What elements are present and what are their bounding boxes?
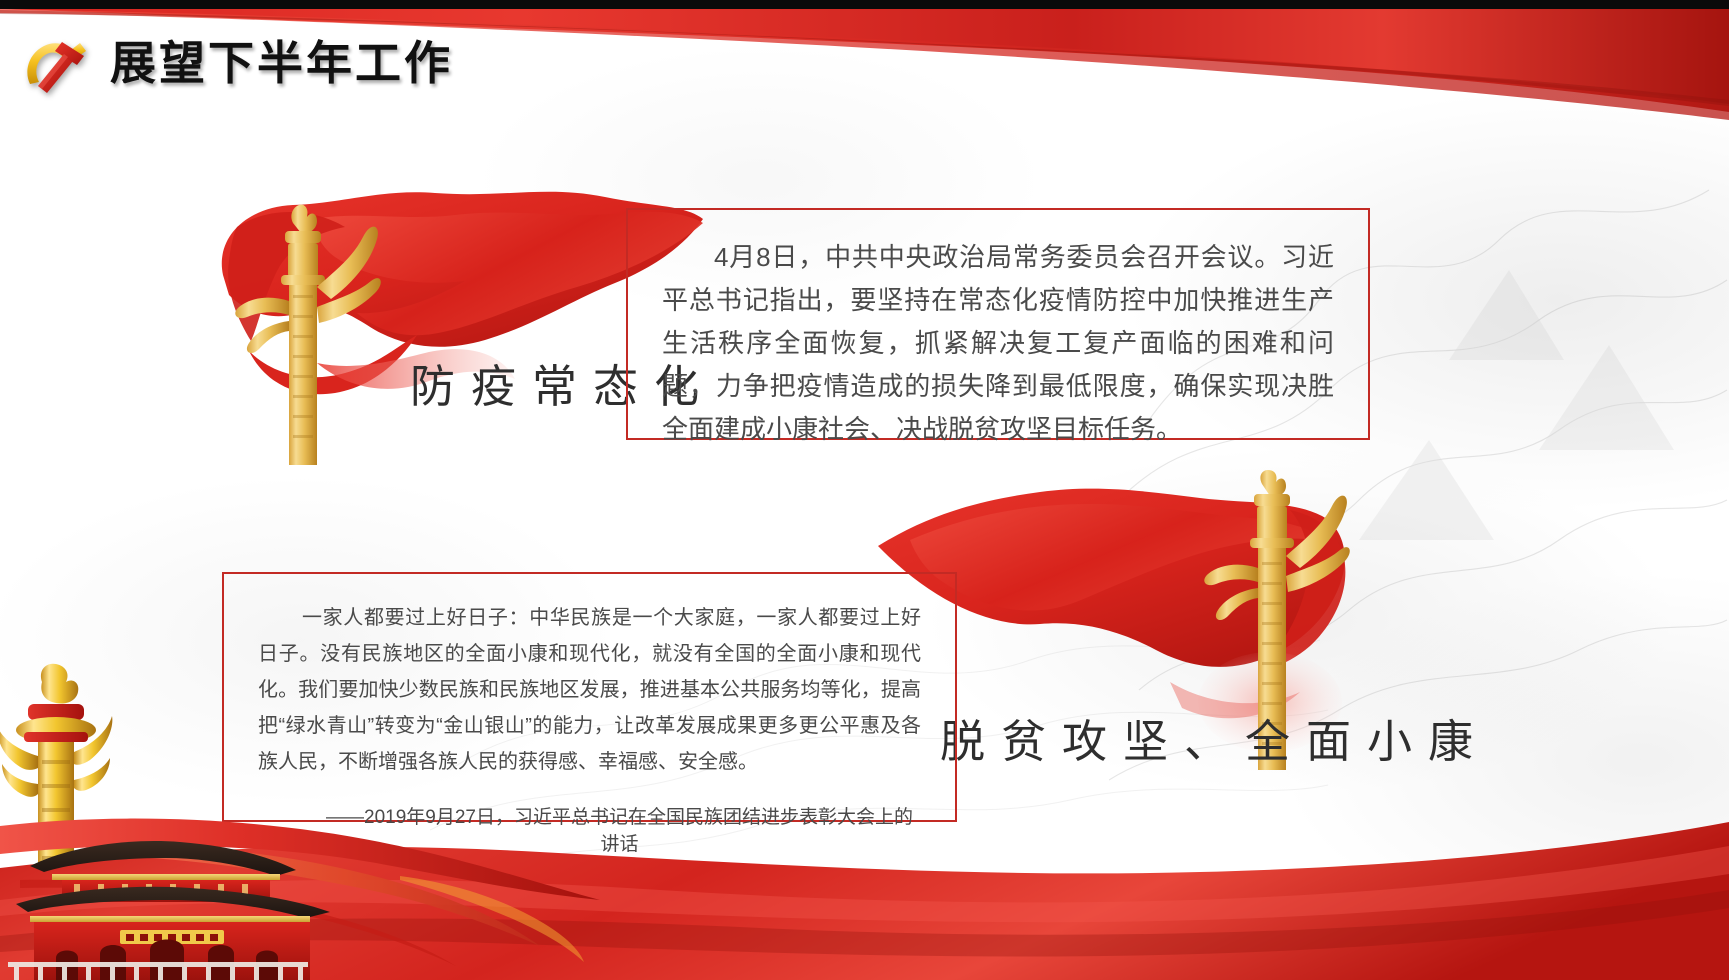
slide-header: 展望下半年工作 [0,14,1729,104]
bottom-red-ribbon-band [0,750,1729,980]
section-body-1: 4月8日，中共中央政治局常务委员会召开会议。习近平总书记指出，要坚持在常态化疫情… [662,236,1334,451]
presentation-slide: 展望下半年工作 [0,0,1729,980]
section-textbox-1: 4月8日，中共中央政治局常务委员会召开会议。习近平总书记指出，要坚持在常态化疫情… [626,208,1370,440]
page-title: 展望下半年工作 [110,28,453,98]
party-emblem-icon [18,32,92,98]
